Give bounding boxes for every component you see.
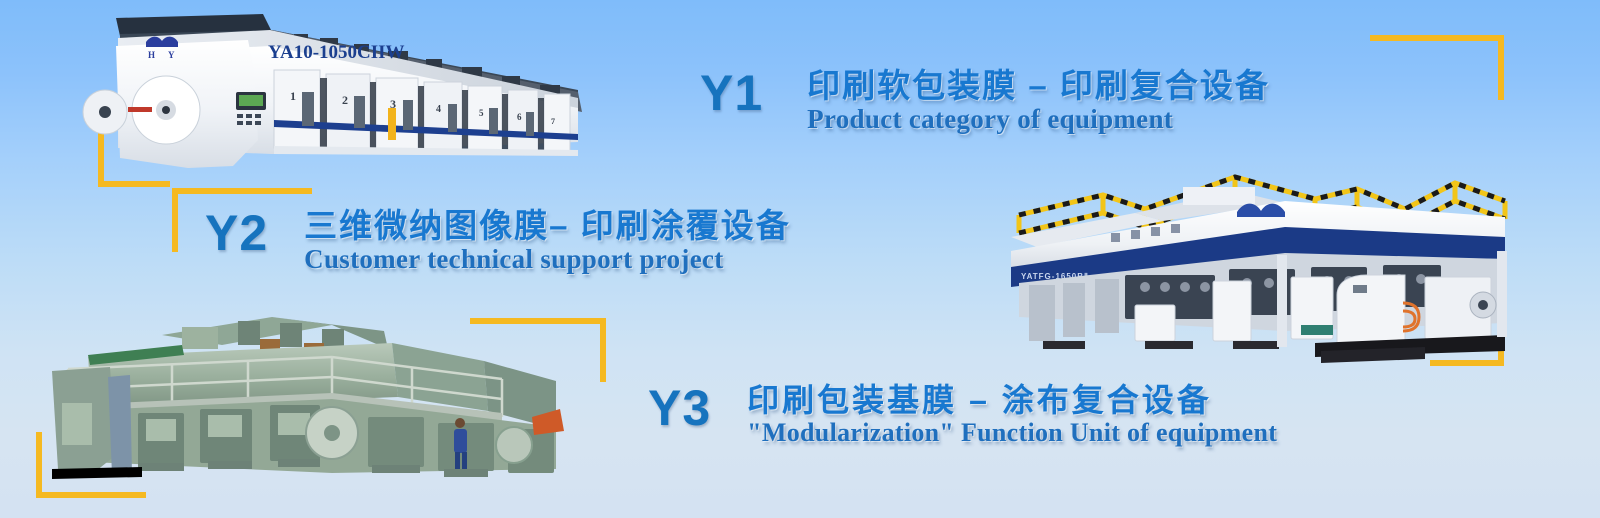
bracket-mid-right-vertical	[600, 318, 606, 382]
machine-model-label-1: YA10-1050CIIW	[268, 42, 405, 63]
machine-photo-coating-laminator: YATFG-1650BⅡ	[985, 155, 1530, 365]
svg-text:5: 5	[479, 108, 484, 118]
entry-title-en-y3: "Modularization" Function Unit of equipm…	[747, 419, 1277, 448]
entry-key-y3: Y3	[648, 383, 711, 433]
entry-title-cn-y1: 印刷软包装膜 – 印刷复合设备	[807, 68, 1270, 105]
entry-row-y2: Y2 三维微纳图像膜– 印刷涂覆设备 Customer technical su…	[205, 208, 791, 275]
entry-key-y1: Y1	[700, 68, 763, 118]
svg-text:7: 7	[551, 117, 555, 126]
promo-banner: H Y YA10-1050CIIW	[0, 0, 1600, 518]
entry-key-y2: Y2	[205, 208, 268, 258]
bracket-top-left-horizontal	[98, 181, 170, 187]
machine-photo-printing-press: H Y YA10-1050CIIW	[58, 8, 598, 176]
bracket-bottom-left-horizontal	[36, 492, 146, 498]
bracket-top-right-vertical	[1498, 35, 1504, 100]
entry-row-y3: Y3 印刷包装基膜 – 涂布复合设备 "Modularization" Func…	[648, 383, 1277, 447]
svg-text:4: 4	[436, 104, 441, 115]
svg-text:1: 1	[290, 89, 296, 103]
entry-title-en-y2: Customer technical support project	[304, 245, 791, 275]
bracket-mid-left-horizontal	[172, 188, 312, 194]
svg-text:Y: Y	[168, 50, 175, 60]
entry-text-y2: 三维微纳图像膜– 印刷涂覆设备 Customer technical suppo…	[304, 208, 791, 275]
entry-title-cn-y2: 三维微纳图像膜– 印刷涂覆设备	[304, 208, 791, 245]
entry-text-y1: 印刷软包装膜 – 印刷复合设备 Product category of equi…	[807, 68, 1270, 135]
entry-text-y3: 印刷包装基膜 – 涂布复合设备 "Modularization" Functio…	[747, 383, 1277, 447]
svg-text:6: 6	[517, 112, 522, 122]
entry-row-y1: Y1 印刷软包装膜 – 印刷复合设备 Product category of e…	[700, 68, 1270, 135]
bracket-mid-left-vertical	[172, 188, 178, 252]
svg-text:2: 2	[342, 93, 348, 107]
machine-photo-base-film-line	[32, 305, 572, 485]
svg-text:H: H	[148, 50, 155, 60]
bracket-top-right-horizontal	[1370, 35, 1504, 41]
entry-title-cn-y3: 印刷包装基膜 – 涂布复合设备	[747, 383, 1277, 419]
entry-title-en-y1: Product category of equipment	[807, 105, 1270, 135]
